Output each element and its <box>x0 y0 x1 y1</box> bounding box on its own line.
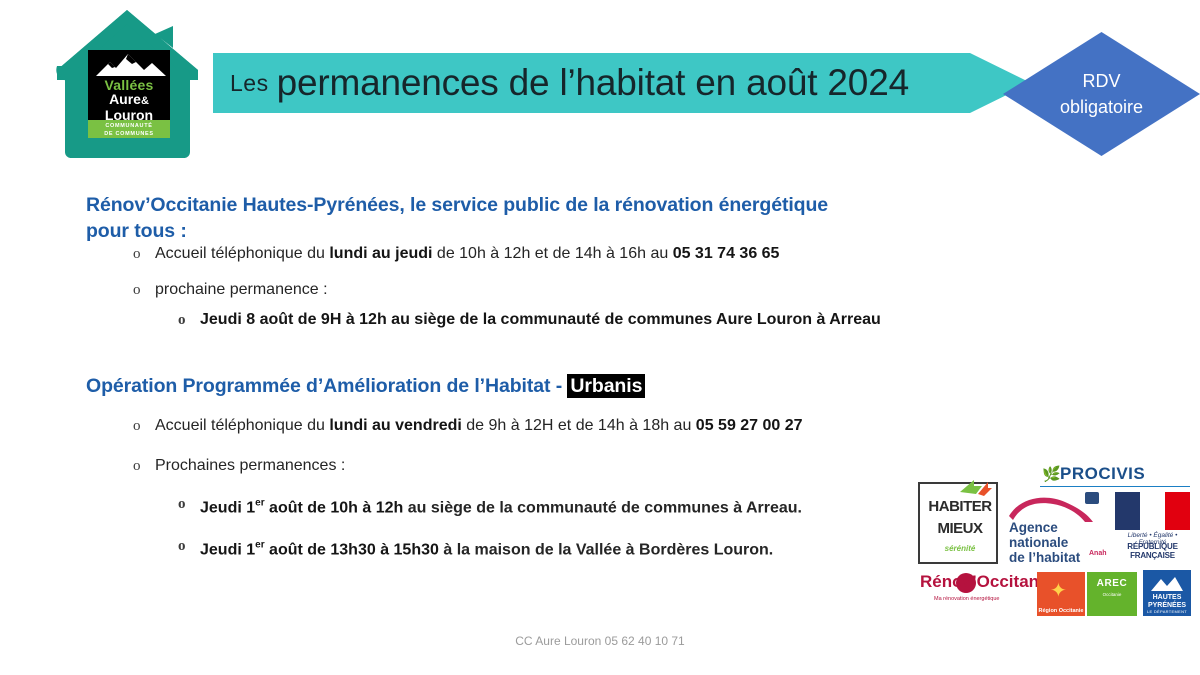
title-banner: Les permanences de l’habitat en août 202… <box>213 53 1031 113</box>
procivis-leaf-icon: 🌿 <box>1042 465 1057 482</box>
anah-text: Agence nationale de l’habitat <box>1009 520 1087 565</box>
logo-band-line2: DE COMMUNES <box>88 130 170 138</box>
list-item: o prochaine permanence : <box>133 279 328 301</box>
arec-logo: AREC Occitanie <box>1087 572 1137 616</box>
bullet-text: Jeudi 8 août de 9H à 12h au siège de la … <box>200 309 881 331</box>
bullet-text: Jeudi 1er août de 13h30 à 15h30 à la mai… <box>200 535 773 561</box>
procivis-label: PROCIVIS <box>1060 464 1145 484</box>
bullet-marker: o <box>178 309 200 331</box>
rdv-badge-line1: RDV <box>1082 68 1120 94</box>
anah-logo: Agence nationale de l’habitat Anah <box>1007 492 1112 564</box>
anah-mark: Anah <box>1089 550 1107 557</box>
mountain-icon <box>88 50 170 80</box>
logo-ampersand: & <box>141 95 149 107</box>
anah-line3: de l’habitat <box>1009 550 1087 565</box>
renov-tagline: Ma rénovation énergétique <box>934 596 999 602</box>
bullet-text: prochaine permanence : <box>155 279 328 301</box>
list-item: o Accueil téléphonique du lundi au vendr… <box>133 415 803 437</box>
logo-band-line1: COMMUNAUTÉ <box>88 122 170 130</box>
procivis-logo: 🌿 PROCIVIS <box>1040 464 1190 487</box>
habiter-mieux-logo: HABITER MIEUX sérénité <box>918 482 998 564</box>
republique-name: RÉPUBLIQUE FRANÇAISE <box>1115 542 1190 560</box>
republique-francaise-logo: Liberté • Égalité • Fraternité RÉPUBLIQU… <box>1115 492 1190 564</box>
page-title: permanences de l’habitat en août 2024 <box>269 62 909 104</box>
vallees-aure-louron-logo: Vallées Aure& Louron COMMUNAUTÉ DE COMMU… <box>55 8 200 160</box>
logo-inner-box: Vallées Aure& Louron COMMUNAUTÉ DE COMMU… <box>88 50 170 138</box>
bullet-marker: o <box>133 279 155 301</box>
list-item: o Jeudi 1er août de 13h30 à 15h30 à la m… <box>178 535 773 561</box>
rdv-badge-line2: obligatoire <box>1060 94 1143 120</box>
renov-label: Rénov’Occitanie <box>920 572 1053 592</box>
bullet-marker: o <box>133 455 155 477</box>
slide: Vallées Aure& Louron COMMUNAUTÉ DE COMMU… <box>0 0 1200 675</box>
bullet-marker: o <box>133 243 155 265</box>
arec-sub: Occitanie <box>1087 592 1137 598</box>
anah-line2: nationale <box>1009 535 1087 550</box>
hp-sub: LE DÉPARTEMENT <box>1143 609 1191 614</box>
mountain-icon <box>1149 575 1185 593</box>
partner-logos: 🌿 PROCIVIS HABITER MIEUX sérénité Agence… <box>915 462 1190 617</box>
hautes-pyrenees-label: HAUTES PYRÉNÉES <box>1143 594 1191 610</box>
habiter-tagline: sérénité <box>920 544 1000 553</box>
bullet-text: Jeudi 1er août de 10h à 12h au siège de … <box>200 493 802 519</box>
urbanis-highlight: Urbanis <box>567 374 645 398</box>
renov-occitanie-logo: Rénov’Occitanie Ma rénovation énergétiqu… <box>920 570 1030 612</box>
bullet-text: Prochaines permanences : <box>155 455 345 477</box>
bullet-marker: o <box>178 535 200 557</box>
region-occitanie-logo: ✦ Région Occitanie <box>1037 572 1085 616</box>
bullet-marker: o <box>178 493 200 515</box>
section2-heading-text: Opération Programmée d’Amélioration de l… <box>86 375 567 397</box>
hp-line1: HAUTES <box>1143 594 1191 602</box>
bullet-marker: o <box>133 415 155 437</box>
habiter-line1: HABITER <box>920 498 1000 515</box>
list-item: o Prochaines permanences : <box>133 455 345 477</box>
occitanie-label: Région Occitanie <box>1037 608 1085 614</box>
logo-band: COMMUNAUTÉ DE COMMUNES <box>88 120 170 138</box>
bullet-text: Accueil téléphonique du lundi au vendred… <box>155 415 803 437</box>
list-item: o Accueil téléphonique du lundi au jeudi… <box>133 243 779 265</box>
header: Vallées Aure& Louron COMMUNAUTÉ DE COMMU… <box>0 0 1200 175</box>
banner-prefix: Les <box>213 70 269 97</box>
section-heading-opah-urbanis: Opération Programmée d’Amélioration de l… <box>86 373 1046 399</box>
arec-label: AREC <box>1087 578 1137 589</box>
section1-heading-line1: Rénov’Occitanie Hautes-Pyrénées, le serv… <box>86 194 828 216</box>
section-heading-renov-occitanie: Rénov’Occitanie Hautes-Pyrénées, le serv… <box>86 192 1046 244</box>
list-item: o Jeudi 1er août de 10h à 12h au siège d… <box>178 493 802 519</box>
section1-heading-line2: pour tous : <box>86 220 187 242</box>
list-item: o Jeudi 8 août de 9H à 12h au siège de l… <box>178 309 881 331</box>
anah-line1: Agence <box>1009 520 1087 535</box>
french-flag-icon <box>1115 492 1190 530</box>
footer: CC Aure Louron 05 62 40 10 71 <box>0 634 1200 648</box>
rdv-badge: RDV obligatoire <box>1003 32 1200 156</box>
hautes-pyrenees-logo: HAUTES PYRÉNÉES LE DÉPARTEMENT <box>1143 570 1191 616</box>
occitanie-cross-icon: ✦ <box>1050 578 1067 603</box>
arrows-icon <box>958 476 994 498</box>
habiter-line2: MIEUX <box>920 520 1000 537</box>
bullet-text: Accueil téléphonique du lundi au jeudi d… <box>155 243 779 265</box>
